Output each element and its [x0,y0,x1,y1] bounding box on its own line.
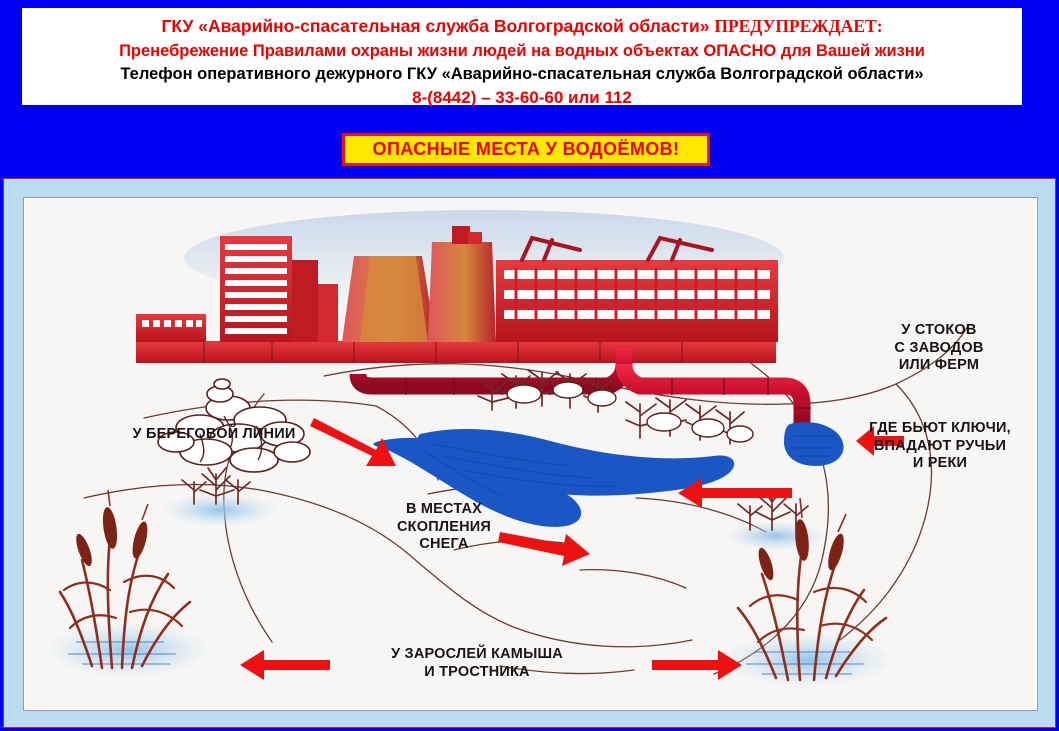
left-shore-bush [164,468,276,526]
discharge-water-spot [784,422,844,466]
poster-canvas: У СТОКОВ С ЗАВОДОВ ИЛИ ФЕРМ ГДЕ БЬЮТ КЛЮ… [23,197,1038,711]
header-line-1: ГКУ «Аварийно-спасательная служба Волгог… [32,17,1012,37]
header-warn-word: ПРЕДУПРЕЖДАЕТ: [714,16,882,36]
warning-header-banner: ГКУ «Аварийно-спасательная служба Волгог… [22,8,1022,105]
arrow-to-reeds-left [240,650,330,680]
poster-title-banner: ОПАСНЫЕ МЕСТА У ВОДОЁМОВ! [342,133,710,166]
header-line-2: Пренебрежение Правилами охраны жизни люд… [32,42,1012,60]
label-reeds: У ЗАРОСЛЕЙ КАМЫША И ТРОСТНИКА [362,646,592,681]
label-shoreline: У БЕРЕГОВОЙ ЛИНИИ [106,426,322,444]
header-phone-number: 8-(8442) – 33-60-60 или 112 [32,88,1012,107]
arrow-to-shoreline [310,418,396,466]
label-snow-accumulation: В МЕСТАХ СКОПЛЕНИЯ СНЕГА [364,501,524,554]
label-springs: ГДЕ БЬЮТ КЛЮЧИ, ВПАДАЮТ РУЧЬИ И РЕКИ [842,420,1038,473]
arrow-to-springs [678,478,792,508]
header-line-3: Телефон оперативного дежурного ГКУ «Авар… [32,65,1012,83]
poster-title-text: ОПАСНЫЕ МЕСТА У ВОДОЁМОВ! [373,139,680,160]
poster-frame: У СТОКОВ С ЗАВОДОВ ИЛИ ФЕРМ ГДЕ БЬЮТ КЛЮ… [3,178,1056,728]
header-org-name: ГКУ «Аварийно-спасательная служба Волгог… [161,16,709,36]
label-outfalls: У СТОКОВ С ЗАВОДОВ ИЛИ ФЕРМ [854,322,1024,375]
